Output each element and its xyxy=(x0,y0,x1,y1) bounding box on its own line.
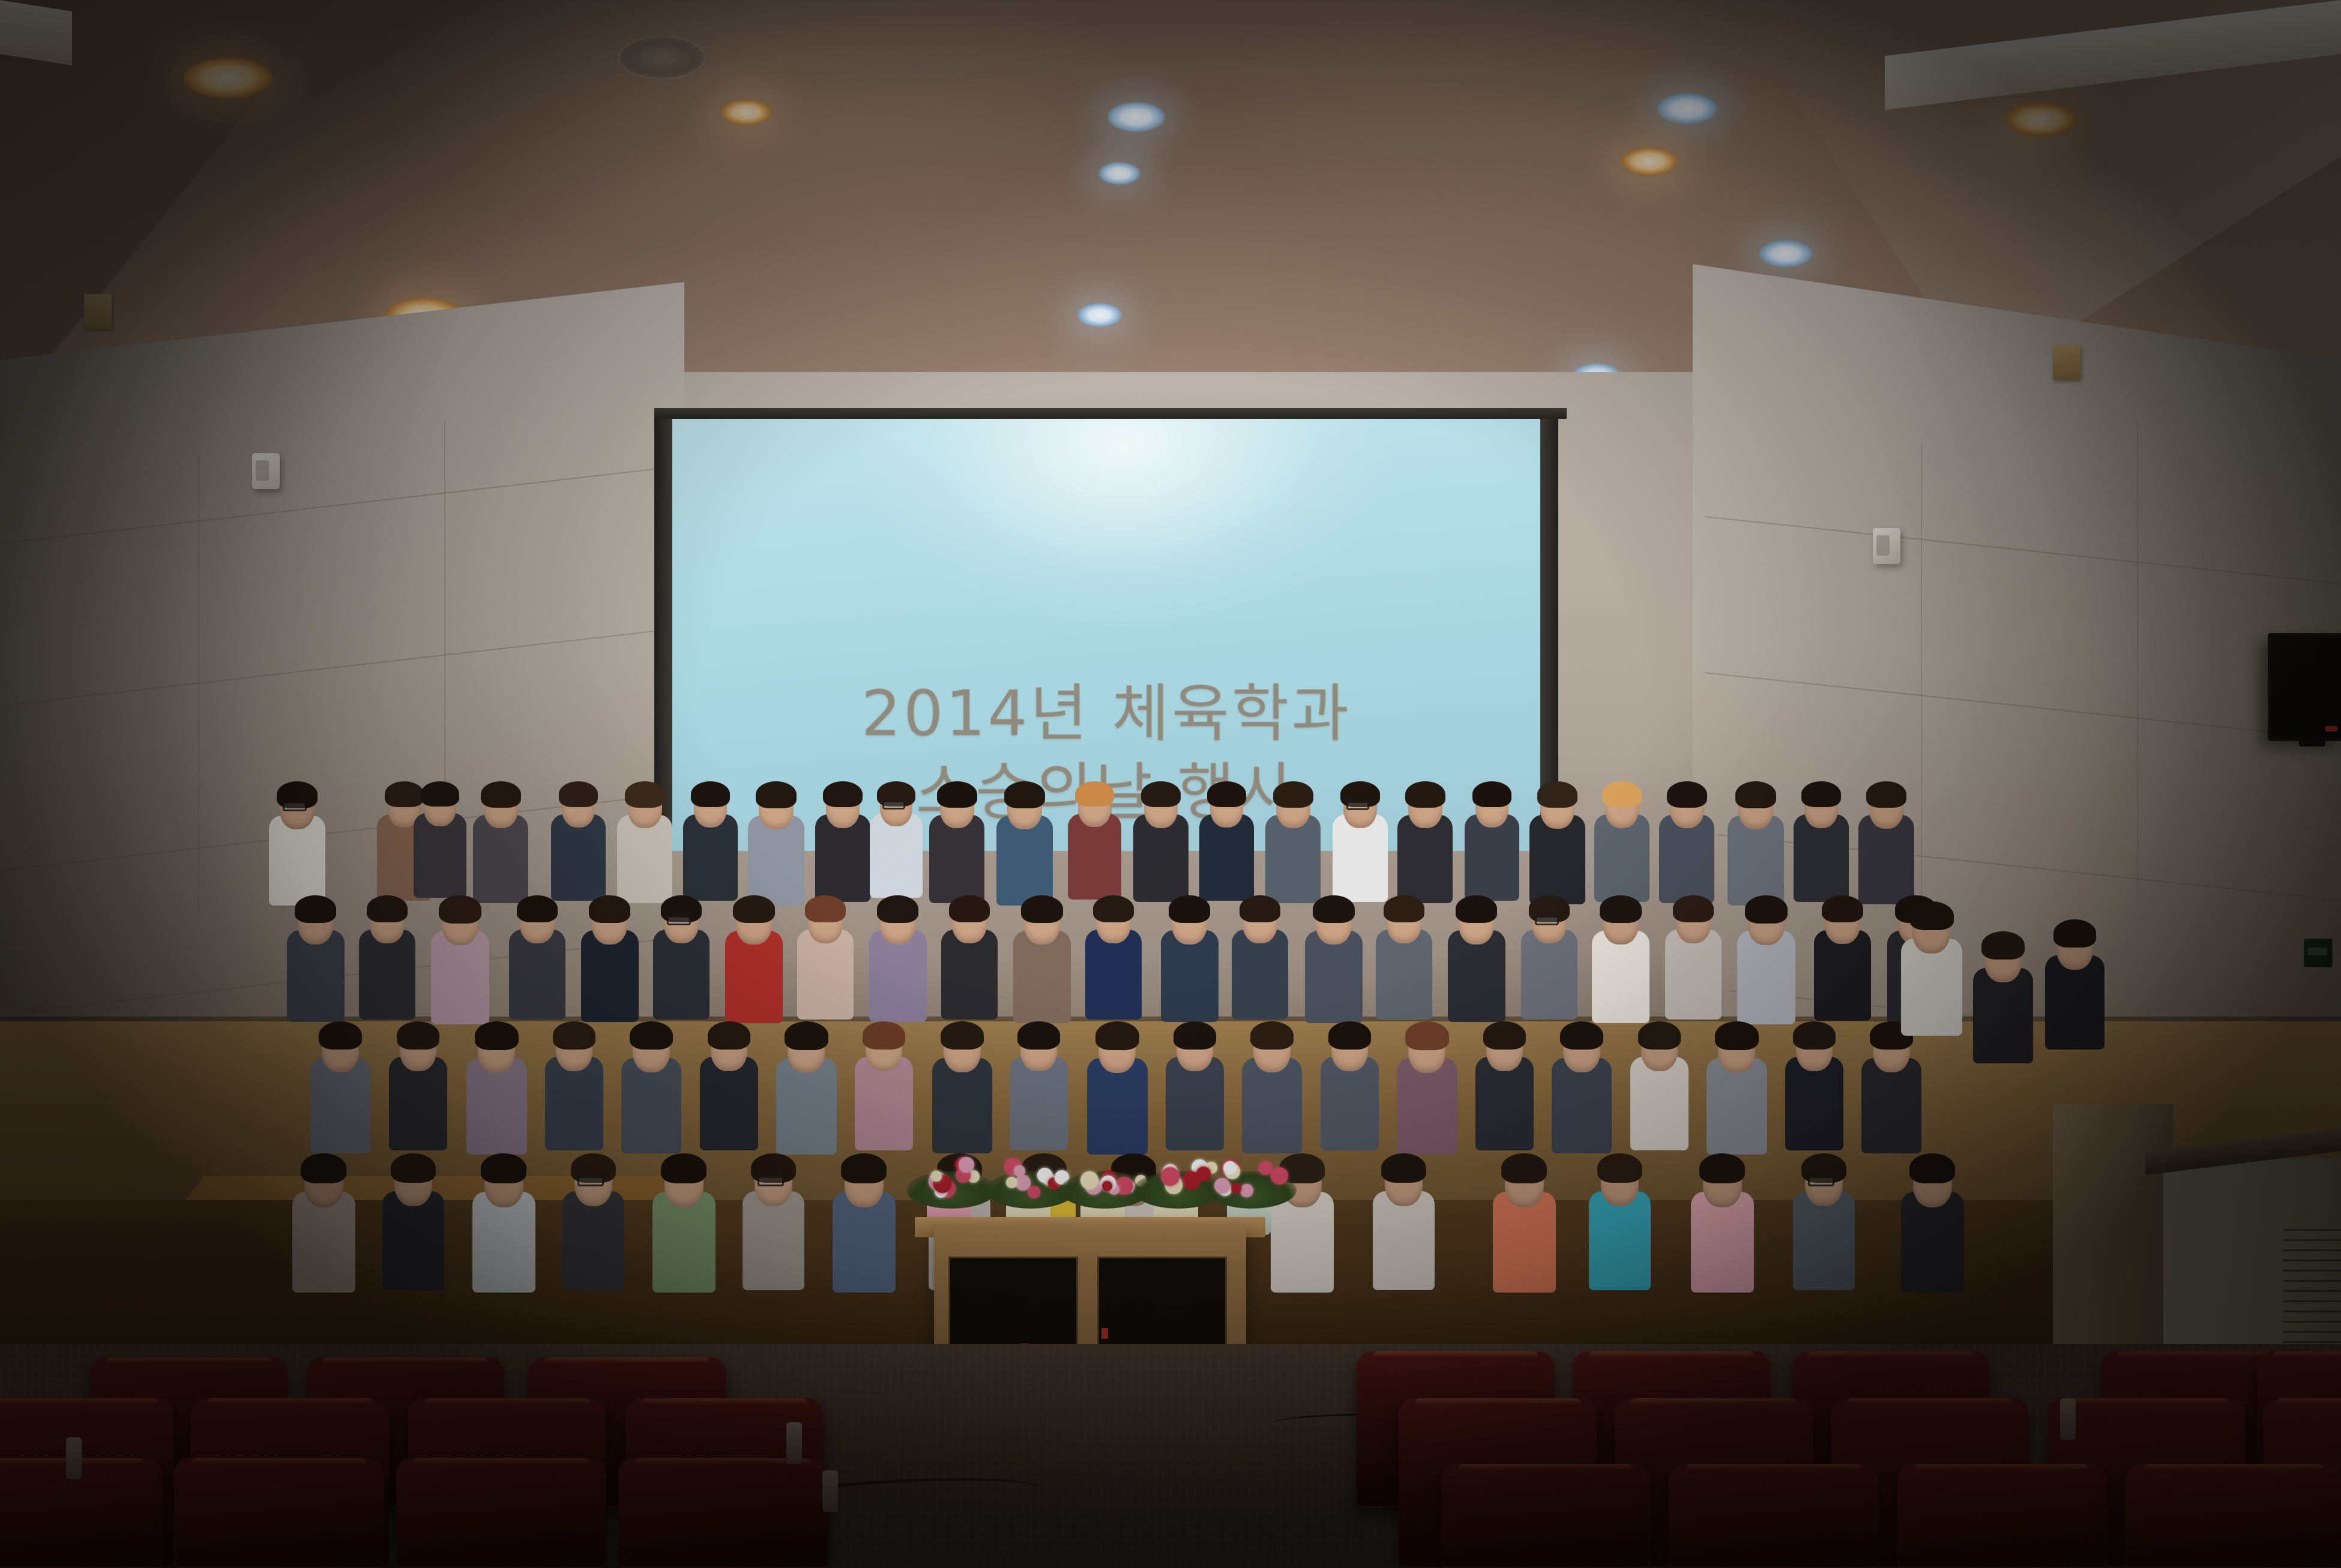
crowd-person-hair xyxy=(1793,1021,1836,1049)
crowd-person-hair xyxy=(1715,1021,1759,1050)
crowd-person-hair xyxy=(1240,895,1280,922)
crowd-person xyxy=(480,1152,540,1321)
flower-bloom xyxy=(1240,1184,1253,1197)
crowd-person-hair xyxy=(1472,781,1511,807)
crowd-person-hair xyxy=(391,1153,436,1183)
crowd-person-hair xyxy=(589,895,630,923)
crowd-person-hair xyxy=(1095,1021,1139,1050)
crowd-person xyxy=(2053,918,2110,1077)
crowd-person-hair xyxy=(1021,895,1063,923)
crowd-person xyxy=(840,1152,900,1321)
crowd-person-hair xyxy=(385,781,424,807)
crowd-person-hair xyxy=(481,1153,526,1183)
crowd-person xyxy=(1801,1152,1860,1318)
crowd-person-hair xyxy=(475,1021,519,1050)
auditorium-seat[interactable] xyxy=(1897,1464,2107,1568)
crowd-person-hair xyxy=(1745,895,1788,923)
crowd-person-hair xyxy=(1673,895,1714,922)
crowd-person-hair xyxy=(1075,781,1114,807)
crowd-person-hair xyxy=(1560,1021,1603,1050)
crowd-person-hair xyxy=(1597,1153,1642,1183)
crowd-person-hair xyxy=(559,781,598,807)
tv-mount-bracket xyxy=(2299,739,2325,746)
tv-brand-badge xyxy=(2325,726,2337,731)
crowd-person-hair xyxy=(1273,781,1313,808)
auditorium-seat[interactable] xyxy=(174,1458,384,1568)
crowd-person-hair xyxy=(295,895,336,923)
eyeglasses-icon xyxy=(1808,1176,1834,1187)
crowd-person-hair xyxy=(517,895,558,922)
seat-armrest[interactable] xyxy=(66,1437,82,1479)
crowd-person-hair xyxy=(1981,931,2025,960)
flower-bloom xyxy=(1259,1161,1273,1175)
crowd-person xyxy=(1381,1152,1439,1318)
crowd-person-hair xyxy=(1866,781,1906,808)
crowd-person-hair xyxy=(1600,895,1642,923)
eyeglasses-icon xyxy=(758,1176,784,1187)
flower-bloom xyxy=(1214,1178,1230,1194)
crowd-person-hair xyxy=(1909,901,1953,930)
crowd-person-hair xyxy=(1141,781,1181,807)
crowd-person-hair xyxy=(1801,781,1841,807)
crowd-person-hair xyxy=(301,1153,346,1183)
crowd-person-hair xyxy=(439,895,481,923)
crowd-person-hair xyxy=(1384,895,1424,922)
crowd-person-hair xyxy=(1328,1021,1371,1049)
crowd-person-hair xyxy=(691,781,730,807)
crowd-person xyxy=(1909,900,1967,1063)
crowd-person-hair xyxy=(733,895,775,923)
crowd-person-hair xyxy=(1093,895,1134,922)
crowd-person-hair xyxy=(877,895,918,923)
crowd-person xyxy=(750,1152,809,1318)
crowd-person-hair xyxy=(1456,895,1497,923)
auditorium-seat[interactable] xyxy=(618,1458,828,1568)
flower-bloom xyxy=(959,1157,974,1173)
eyeglasses-icon xyxy=(882,801,905,810)
wall-speaker-right xyxy=(1873,528,1900,564)
crowd-person-hair xyxy=(805,895,846,922)
eyeglasses-icon xyxy=(667,916,691,925)
crowd-person xyxy=(390,1152,449,1318)
crowd-person-hair xyxy=(1699,1153,1745,1183)
flower-bloom xyxy=(1161,1167,1180,1186)
crowd-person-hair xyxy=(319,1021,362,1050)
crowd-person-hair xyxy=(937,781,977,808)
av-cabinet-indicator-right xyxy=(1101,1328,1108,1339)
crowd-person xyxy=(660,1152,720,1321)
crowd-person-hair xyxy=(1667,781,1707,808)
wall-mounted-tv xyxy=(2268,633,2341,741)
auditorium-seat[interactable] xyxy=(396,1458,606,1568)
auditorium-seat[interactable] xyxy=(1441,1464,1651,1568)
seat-armrest[interactable] xyxy=(822,1470,838,1512)
auditorium-photo-scene: 2014년 체육학과 스승의날 행사 xyxy=(0,0,2341,1568)
crowd-person xyxy=(1699,1152,1758,1321)
eyeglasses-icon xyxy=(577,1176,604,1187)
crowd-person-hair xyxy=(1381,1153,1426,1183)
auditorium-seat[interactable] xyxy=(1669,1464,1879,1568)
crowd-person-hair xyxy=(1501,1153,1547,1183)
flower-bloom xyxy=(931,1171,942,1182)
crowd-person-hair xyxy=(785,1021,828,1050)
crowd-person-hair xyxy=(756,781,797,808)
crowd-person-hair xyxy=(625,781,665,808)
crowd-person-hair xyxy=(1004,781,1045,808)
crowd-person xyxy=(1909,1152,1968,1321)
crowd-person-hair xyxy=(1822,895,1863,922)
crowd-person-hair xyxy=(1250,1021,1294,1050)
eyeglasses-icon xyxy=(1535,916,1559,925)
seat-armrest[interactable] xyxy=(2060,1398,2076,1440)
crowd-person-hair xyxy=(1405,1021,1449,1050)
crowd-person-hair xyxy=(1537,781,1577,808)
crowd-person-hair xyxy=(1735,781,1776,808)
crowd-person-hair xyxy=(2053,919,2096,948)
crowd-person xyxy=(1597,1152,1656,1318)
flower-bloom xyxy=(1102,1181,1112,1191)
wall-bracket-left xyxy=(84,294,112,329)
crowd-person-hair xyxy=(1313,895,1355,923)
crowd-person-hair xyxy=(1405,781,1445,808)
crowd-person-hair xyxy=(708,1021,750,1049)
flower-bloom xyxy=(1196,1167,1211,1181)
crowd-person-hair xyxy=(949,895,990,922)
crowd-person-hair xyxy=(841,1153,887,1183)
crowd-person xyxy=(570,1152,629,1318)
seat-armrest[interactable] xyxy=(786,1422,802,1464)
flower-bloom xyxy=(1271,1167,1288,1185)
screen-frame-right-bar xyxy=(1540,408,1558,840)
eyeglasses-icon xyxy=(283,802,307,811)
crowd-person-hair xyxy=(1602,781,1642,807)
flower-bloom xyxy=(1028,1186,1040,1198)
crowd-person-hair xyxy=(553,1021,595,1049)
crowd-person-hair xyxy=(630,1021,673,1050)
crowd-person-hair xyxy=(1207,781,1246,807)
crowd-person-hair xyxy=(1483,1021,1526,1049)
flower-bloom xyxy=(1223,1161,1237,1174)
crowd-person-hair xyxy=(1909,1153,1955,1183)
auditorium-seat[interactable] xyxy=(2125,1464,2341,1568)
crowd-person-hair xyxy=(1638,1021,1681,1049)
crowd-person-hair xyxy=(367,895,408,922)
crowd-person-hair xyxy=(421,781,459,807)
flower-bloom xyxy=(1080,1171,1098,1189)
crowd-person-hair xyxy=(823,781,863,807)
eyeglasses-icon xyxy=(1346,801,1370,811)
crowd-person-hair xyxy=(1017,1021,1060,1049)
ceiling-rim-left xyxy=(0,0,72,65)
slide-title-line-1: 2014년 체육학과 xyxy=(861,676,1351,752)
crowd-person-hair xyxy=(397,1021,439,1049)
crowd-person xyxy=(300,1152,360,1321)
crowd-person-hair xyxy=(863,1021,905,1049)
flower-bloom xyxy=(1231,1183,1241,1194)
crowd-person-hair xyxy=(941,1021,984,1050)
screen-frame-top-bar xyxy=(654,408,1567,419)
lectern-vent-slots xyxy=(2283,1229,2341,1355)
crowd-person xyxy=(1981,930,2038,1090)
crowd-person-hair xyxy=(481,781,521,808)
wall-speaker-left xyxy=(252,453,280,489)
crowd-person-hair xyxy=(1174,1021,1216,1049)
crowd-person-hair xyxy=(661,1153,707,1183)
crowd-person xyxy=(1501,1152,1560,1321)
flower-bloom xyxy=(1006,1177,1017,1188)
wall-bracket-right xyxy=(2053,345,2080,380)
crowd-person-hair xyxy=(1169,895,1210,923)
